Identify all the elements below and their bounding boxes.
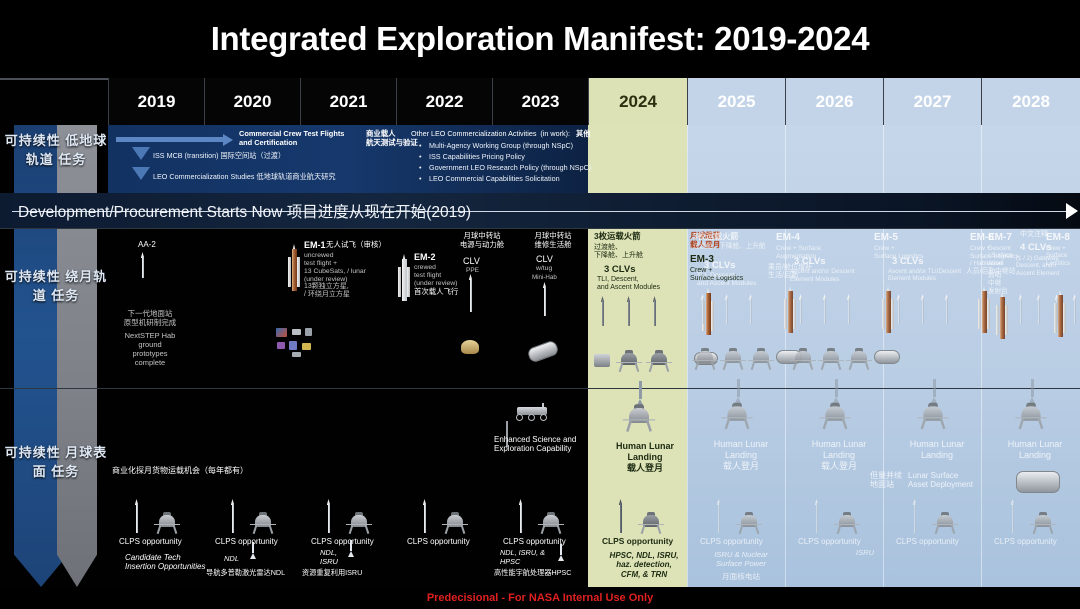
clps-2023-label: CLPS opportunity xyxy=(503,537,566,546)
clps-2021-lander-icon xyxy=(346,512,372,534)
year-cell-2027[interactable]: 2027 xyxy=(883,78,981,125)
clv-2027-parts-en: Ascent and/or TLI/Descent Element Module… xyxy=(888,268,961,283)
em8-sub: Crew + Surface Logistics xyxy=(1046,245,1070,267)
year-cell-2023[interactable]: 2023 xyxy=(492,78,588,125)
iss-mcb-marker-icon xyxy=(132,147,150,160)
hll-2027-lander-icon xyxy=(917,403,948,429)
cislunar-2019-title: AA-2 xyxy=(138,240,156,249)
year-cell-2028[interactable]: 2028 xyxy=(981,78,1080,125)
year-cell-2026[interactable]: 2026 xyxy=(785,78,883,125)
em7-label: EM-7 xyxy=(988,232,1012,244)
bullet-3-icon: • xyxy=(419,163,422,173)
tech-2021: NDL, ISRU xyxy=(320,549,338,567)
hll-2024-label: Human Lunar Landing xyxy=(612,441,678,462)
em4-sls-rocket-icon xyxy=(784,286,796,344)
year-cell-2025[interactable]: 2025 xyxy=(687,78,785,125)
em5-label: EM-5 xyxy=(874,232,898,244)
predecisional-notice: Predecisional - For NASA Internal Use On… xyxy=(427,592,653,604)
clv-2025-module-2-icon xyxy=(720,348,746,370)
em2-title: EM-2 xyxy=(414,252,436,263)
year-cell-2019[interactable]: 2019 xyxy=(108,78,204,125)
clv-2026-parts-en: Ascent and/or Descent Element Modules xyxy=(790,268,855,283)
em2-title-cn: 首次载人飞行 xyxy=(414,288,458,297)
clv-2024-parts-en: TLI, Descent, and Ascent Modules xyxy=(597,276,660,293)
leo-studies-label: LEO Commercialization Studies 低地球轨道商业航天研… xyxy=(153,172,336,182)
clv-tug-title-cn: 月球中转站 维修生活舱 xyxy=(521,232,585,249)
clps-2020-label: CLPS opportunity xyxy=(215,537,278,546)
em8-label: EM-8 xyxy=(1046,232,1070,244)
other-leo-item-3: LEO Commercial Capabilities Solicitation xyxy=(429,174,560,184)
cubesat-cluster xyxy=(276,328,326,358)
clps-2027-lander-icon xyxy=(932,512,958,534)
bullet-4-icon: • xyxy=(419,174,422,184)
clv-2025-count-en: 3 CLVs xyxy=(704,260,736,271)
clv-2025-parts-en: TLI, Descent and Ascent Modules xyxy=(697,272,756,288)
asset-deploy-label: Lunar Surface Asset Deployment xyxy=(908,471,973,490)
clv-ppe-title-cn: 月球中转站 电源与动力舱 xyxy=(450,232,514,249)
year-cell-2022[interactable]: 2022 xyxy=(396,78,492,125)
hll-2027-label: Human Lunar Landing xyxy=(904,439,970,460)
development-banner: Development/Procurement Starts Now 项目进度从… xyxy=(0,193,1080,228)
page-title: Integrated Exploration Manifest: 2019-20… xyxy=(211,20,870,58)
clv-tug-label: CLV xyxy=(536,254,553,265)
clps-2024-label: CLPS opportunity xyxy=(602,537,673,547)
footer-bar: Predecisional - For NASA Internal Use On… xyxy=(0,587,1080,609)
row-label-leo: 可持续性 低地球轨道 任务 xyxy=(4,132,108,170)
tech-2024: HPSC, NDL, ISRU, haz. detection, CFM, & … xyxy=(596,551,692,579)
tli-module-icon xyxy=(594,354,610,367)
title-bar: Integrated Exploration Manifest: 2019-20… xyxy=(0,0,1080,78)
em1-sls-rocket-icon xyxy=(288,244,300,296)
commercial-crew-title: Commercial Crew Test Flights and Certifi… xyxy=(239,130,344,147)
hll-2026-lander-icon xyxy=(819,403,850,429)
clps-2023-lander-icon xyxy=(538,512,564,534)
clps-2019-label: CLPS opportunity xyxy=(119,537,182,546)
enhanced-science-label: Enhanced Science and Exploration Capabil… xyxy=(494,435,576,454)
nextstep-note-cn: 下一代地面站 原型机研制完成 xyxy=(115,310,185,328)
tech-2025-cn: 月面核电站 xyxy=(696,573,786,582)
clps-2025-lander-icon xyxy=(736,512,762,534)
other-leo-item-0: Multi-Agency Working Group (through NSpC… xyxy=(429,141,573,151)
asset-deploy-cn: 但量并续 地面站 xyxy=(870,471,902,490)
clv-2025-count-cn: 3枚运载火箭 xyxy=(693,232,739,242)
science-rover-icon xyxy=(514,403,552,421)
clps-2024-lander-icon xyxy=(638,512,664,534)
commercial-crew-title-cn: 商业载人 航天测试与验证 xyxy=(366,130,418,147)
hll-2028-lander-icon xyxy=(1015,403,1046,429)
year-cell-2020[interactable]: 2020 xyxy=(204,78,300,125)
clv-2026-module-3-icon xyxy=(846,348,872,370)
clv-2028-count-cn: 中文注释 xyxy=(1020,231,1048,239)
development-banner-text: Development/Procurement Starts Now 项目进度从… xyxy=(18,200,471,222)
clps-2022-label: CLPS opportunity xyxy=(407,537,470,546)
em7-sub: Descent / Surface Asset xyxy=(988,245,1013,267)
year-cell-2021[interactable]: 2021 xyxy=(300,78,396,125)
row-leo: Commercial Crew Test Flights and Certifi… xyxy=(108,125,1080,193)
clv-ppe-sub: PPE xyxy=(466,267,479,275)
em4-label: EM-4 xyxy=(776,232,800,244)
hll-2028-label: Human Lunar Landing xyxy=(1002,439,1068,460)
em3-sls-rocket-icon xyxy=(702,288,714,344)
em7-sls-rocket-icon xyxy=(996,292,1008,346)
tech-2020: NDL xyxy=(224,555,239,564)
bullet-1-icon: • xyxy=(419,141,422,151)
clps-2026-lander-icon xyxy=(834,512,860,534)
tech-2020-cn: 导航多普勒激光雷达NDL xyxy=(206,569,285,577)
year-cell-2024[interactable]: 2024 xyxy=(588,78,687,125)
descent-module-icon xyxy=(616,350,642,372)
ppe-payload-icon xyxy=(461,340,479,354)
tech-2026: ISRU xyxy=(856,549,874,558)
surface-habitat-icon xyxy=(1016,471,1060,493)
tech-2023-cn: 高性能宇航处理器HPSC xyxy=(494,569,571,577)
row-label-cislunar: 可持续性 绕月轨道 任务 xyxy=(4,268,108,306)
em2-note-en: crewed test flight (under review) xyxy=(414,264,457,288)
clps-2021-label: CLPS opportunity xyxy=(311,537,374,546)
bullet-2-icon: • xyxy=(419,152,422,162)
em1-title: EM-1 xyxy=(304,240,326,251)
em5-sls-rocket-icon xyxy=(882,286,894,344)
clv-2026-module-1-icon xyxy=(790,348,816,370)
candidate-tech-label: Candidate Tech Insertion Opportunities xyxy=(125,553,206,572)
clv-2026-module-2-icon xyxy=(818,348,844,370)
clps-2028-lander-icon xyxy=(1030,512,1056,534)
em8-sls-rocket-icon xyxy=(1054,290,1066,346)
em1-title-cn: 无人试飞（审核） xyxy=(326,241,386,250)
hll-2024-label-cn: 载人登月 xyxy=(612,463,678,474)
row-label-surface: 可持续性 月球表面 任务 xyxy=(4,444,108,482)
tech-2023: NDL, ISRU, & HPSC xyxy=(500,549,545,566)
clps-2022-lander-icon xyxy=(442,512,468,534)
clv-2027-count-en: 3 CLVs xyxy=(892,256,924,267)
tech-2025: ISRU & Nuclear Surface Power xyxy=(696,551,786,569)
other-leo-item-2: Government LEO Research Policy (through … xyxy=(429,163,591,173)
iss-mcb-label: ISS MCB (transition) 国际空间站（过渡） xyxy=(153,151,285,161)
hll-2026-label-cn: 载人登月 xyxy=(806,461,872,472)
leo-studies-marker-icon xyxy=(132,167,150,180)
row-surface: 商业化探月货物运载机会（每年都有） CLPS opportunity Candi… xyxy=(108,389,1080,587)
clv-2024-parts-cn: 过渡舱、 下降舱、上升舱 xyxy=(594,244,643,261)
clv-2024-count-cn: 3枚运载火箭 xyxy=(594,232,641,242)
em1-note-cn: 13颗独立方星, / 环绕月立方星 xyxy=(304,283,350,300)
other-leo-item-1: ISS Capabilities Pricing Policy xyxy=(429,152,525,162)
mini-hab-icon xyxy=(526,339,559,363)
nextstep-note-en: NextSTEP Hab ground prototypes complete xyxy=(115,332,185,367)
tech-2021-cn: 资源重复利用ISRU xyxy=(302,569,362,577)
clv-ppe-label: CLV xyxy=(463,256,480,267)
clv-tug-sub: w/tug xyxy=(536,265,552,273)
em5-logistics-icon xyxy=(874,350,900,364)
other-leo-header: Other LEO Commercialization Activities (… xyxy=(411,129,570,139)
em1-note-en: uncrewed test flight + 13 CubeSats, / lu… xyxy=(304,252,366,284)
clps-2025-label: CLPS opportunity xyxy=(700,537,763,546)
commercial-crew-arrow xyxy=(116,137,224,142)
clv-tug-sub2: Mini-Hab xyxy=(532,274,557,281)
hll-2025-lander-icon xyxy=(721,403,752,429)
clps-2026-label: CLPS opportunity xyxy=(798,537,861,546)
other-leo-header-cn: 其他 xyxy=(576,129,590,139)
clv-2025-module-3-icon xyxy=(748,348,774,370)
hll-2025-label-cn: 载人登月 xyxy=(708,461,774,472)
slide-root: Integrated Exploration Manifest: 2019-20… xyxy=(0,0,1080,609)
clv-2025-module-1-icon xyxy=(692,348,718,370)
hll-2025-label: Human Lunar Landing xyxy=(708,439,774,460)
clv-2024-count-en: 3 CLVs xyxy=(604,264,636,275)
hll-2024-lander-icon xyxy=(623,404,656,432)
clps-2027-label: CLPS opportunity xyxy=(896,537,959,546)
clv-2026-count-en: 3 CLVs xyxy=(794,256,826,267)
development-arrow-icon xyxy=(1066,203,1078,219)
em2-sls-rocket-icon xyxy=(398,254,410,306)
ascent-module-icon xyxy=(646,350,672,372)
year-header-row: 2019 2020 2021 2022 2023 2024 2025 2026 … xyxy=(0,78,1080,125)
clps-2019-lander-icon xyxy=(154,512,180,534)
clv-2025-parts-cn: 过渡舱、下降舱、上升舱 xyxy=(693,243,766,251)
clps-header-cn: 商业化探月货物运载机会（每年都有） xyxy=(112,466,248,475)
clps-2028-label: CLPS opportunity xyxy=(994,537,1057,546)
row-cislunar: AA-2 下一代地面站 原型机研制完成 NextSTEP Hab ground … xyxy=(108,228,1080,388)
clps-2020-lander-icon xyxy=(250,512,276,534)
hll-2026-label: Human Lunar Landing xyxy=(806,439,872,460)
